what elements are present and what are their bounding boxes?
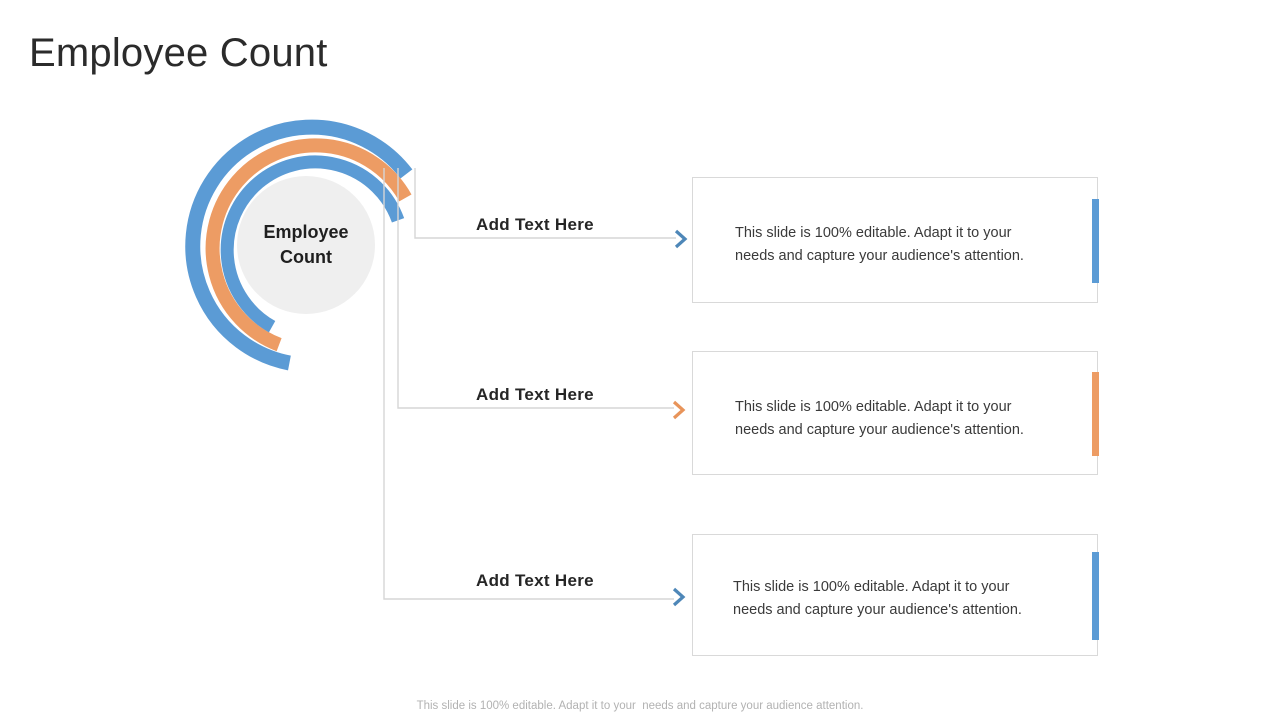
footer-note: This slide is 100% editable. Adapt it to…	[0, 700, 1280, 712]
chevron-right-icon-row-3	[670, 586, 690, 608]
chevron-right-icon-row-1	[672, 228, 692, 250]
content-text-3: This slide is 100% editable. Adapt it to…	[733, 576, 1073, 622]
donut-center-label: Employee Count	[237, 176, 375, 314]
slide-canvas: Employee Count Employee Count Add Text H…	[0, 0, 1280, 720]
donut-graphic: Employee Count	[170, 110, 420, 380]
page-title: Employee Count	[29, 28, 328, 78]
accent-bar-1	[1092, 199, 1099, 283]
accent-bar-3	[1092, 552, 1099, 640]
accent-bar-2	[1092, 372, 1099, 456]
donut-center-line-1: Employee	[263, 220, 348, 245]
row-heading-3: Add Text Here	[476, 571, 594, 591]
content-text-1: This slide is 100% editable. Adapt it to…	[735, 222, 1075, 268]
content-text-2: This slide is 100% editable. Adapt it to…	[735, 396, 1075, 442]
row-heading-2: Add Text Here	[476, 385, 594, 405]
donut-center-line-2: Count	[280, 245, 332, 270]
row-heading-1: Add Text Here	[476, 215, 594, 235]
chevron-right-icon-row-2	[670, 399, 690, 421]
connector-bracket-row-2	[398, 168, 674, 408]
